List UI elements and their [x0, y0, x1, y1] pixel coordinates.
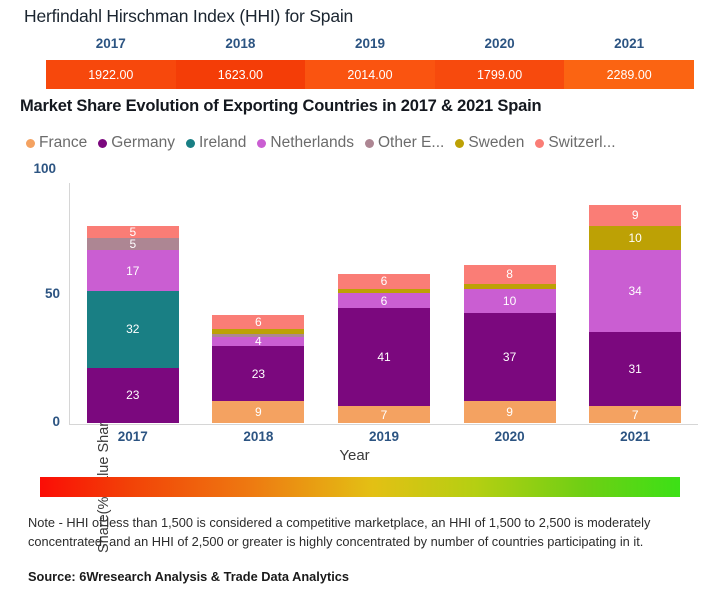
chart-title: Market Share Evolution of Exporting Coun…	[20, 97, 541, 116]
hhi-year-row: 20172018201920202021	[46, 36, 694, 58]
bar-segment[interactable]: 9	[464, 401, 556, 423]
legend-swatch-icon	[26, 139, 35, 148]
bar-group[interactable]: 23321755	[87, 226, 179, 423]
x-axis-tick-label: 2020	[464, 429, 556, 444]
legend-item[interactable]: Ireland	[186, 134, 246, 152]
hhi-value-cell: 2289.00	[564, 60, 694, 89]
bar-segment[interactable]: 23	[87, 368, 179, 423]
bar-group[interactable]: 92346	[212, 315, 304, 423]
bar-segment[interactable]: 6	[338, 274, 430, 288]
hhi-value-cell: 1623.00	[176, 60, 306, 89]
bar-segment[interactable]: 32	[87, 291, 179, 368]
legend-swatch-icon	[365, 139, 374, 148]
y-axis-tick-100: 100	[10, 161, 56, 176]
x-axis-tick-label: 2018	[212, 429, 304, 444]
x-axis-tick-label: 2017	[87, 429, 179, 444]
legend-item[interactable]: Germany	[98, 134, 175, 152]
bar-segment[interactable]: 34	[589, 250, 681, 332]
chart-legend: FranceGermanyIrelandNetherlandsOther E..…	[26, 132, 696, 154]
legend-swatch-icon	[98, 139, 107, 148]
concentration-gradient-bar	[40, 477, 680, 497]
legend-swatch-icon	[455, 139, 464, 148]
hhi-value-cell: 1922.00	[46, 60, 176, 89]
legend-item[interactable]: Sweden	[455, 134, 524, 152]
bar-segment[interactable]: 4	[212, 337, 304, 347]
x-axis-title: Year	[0, 447, 709, 464]
hhi-year-label: 2020	[435, 36, 565, 58]
legend-item-label: Other E...	[378, 134, 444, 152]
hhi-year-label: 2021	[564, 36, 694, 58]
legend-swatch-icon	[535, 139, 544, 148]
y-axis-tick-50: 50	[14, 286, 60, 301]
bar-segment[interactable]: 7	[338, 406, 430, 423]
hhi-title: Herfindahl Hirschman Index (HHI) for Spa…	[24, 6, 353, 27]
bar-group[interactable]: 73134109	[589, 205, 681, 423]
x-axis-tick-label: 2019	[338, 429, 430, 444]
bar-segment[interactable]: 5	[87, 238, 179, 250]
bar-segment[interactable]: 5	[87, 226, 179, 238]
bar-segment[interactable]: 9	[589, 205, 681, 227]
legend-item-label: France	[39, 134, 87, 152]
hhi-year-label: 2018	[176, 36, 306, 58]
legend-item-label: Switzerl...	[548, 134, 615, 152]
bar-segment[interactable]: 17	[87, 250, 179, 291]
bar-segment[interactable]: 23	[212, 346, 304, 401]
bar-segment[interactable]: 8	[464, 265, 556, 284]
hhi-value-cell: 2014.00	[305, 60, 435, 89]
bar-segment[interactable]: 31	[589, 332, 681, 406]
bar-segment[interactable]: 10	[464, 289, 556, 313]
x-axis-tick-label: 2021	[589, 429, 681, 444]
hhi-section: Herfindahl Hirschman Index (HHI) for Spa…	[0, 0, 709, 98]
legend-swatch-icon	[257, 139, 266, 148]
legend-item-label: Ireland	[199, 134, 246, 152]
bar-segment[interactable]: 10	[589, 226, 681, 250]
bar-group[interactable]: 74166	[338, 274, 430, 423]
bar-group[interactable]: 937108	[464, 265, 556, 423]
hhi-value-cell: 1799.00	[435, 60, 565, 89]
legend-item-label: Sweden	[468, 134, 524, 152]
legend-item[interactable]: Netherlands	[257, 134, 354, 152]
x-axis-line	[69, 424, 698, 425]
legend-swatch-icon	[186, 139, 195, 148]
hhi-value-bar: 1922.001623.002014.001799.002289.00	[46, 60, 694, 89]
legend-item[interactable]: Other E...	[365, 134, 444, 152]
hhi-year-label: 2017	[46, 36, 176, 58]
bar-segment[interactable]: 6	[338, 293, 430, 307]
y-axis-tick-0: 0	[14, 414, 60, 429]
bar-segment[interactable]: 7	[589, 406, 681, 423]
hhi-year-label: 2019	[305, 36, 435, 58]
bar-segment[interactable]: 41	[338, 308, 430, 406]
bar-segment[interactable]: 9	[212, 401, 304, 423]
note-text: Note - HHI of less than 1,500 is conside…	[28, 514, 688, 551]
legend-item[interactable]: France	[26, 134, 87, 152]
legend-item-label: Netherlands	[270, 134, 354, 152]
bar-segment[interactable]: 37	[464, 313, 556, 402]
plot-area: Share(% Value Share) 2332175592346741669…	[70, 183, 698, 423]
legend-item-label: Germany	[111, 134, 175, 152]
bar-segment[interactable]: 6	[212, 315, 304, 329]
source-text: Source: 6Wresearch Analysis & Trade Data…	[28, 569, 349, 584]
legend-item[interactable]: Switzerl...	[535, 134, 615, 152]
